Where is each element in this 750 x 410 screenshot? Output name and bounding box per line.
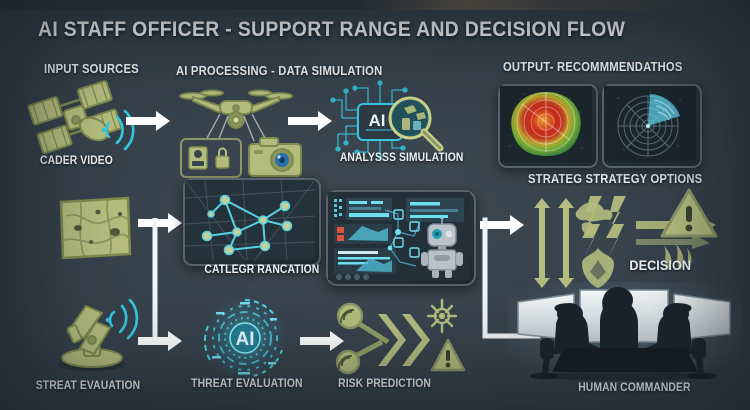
infographic-canvas: AI STAFF OFFICER - SUPPORT RANGE AND DEC…	[0, 0, 750, 410]
chevrons-icon	[330, 298, 476, 380]
caption-decision: DECISION	[629, 257, 691, 273]
strategy-marker-top-icon	[570, 198, 618, 240]
commander-table-icon	[508, 282, 742, 380]
heading-ai-processing: AI PROCESSING - DATA SIMULATION	[176, 64, 382, 78]
chip-ai-label: AI	[369, 111, 386, 130]
caption-catlegr-rancation: CATLEGR RANCATION	[204, 264, 319, 276]
arrow-radar-to-ai-core	[138, 328, 184, 350]
caption-threat-evaluation: THREAT EVALUATION	[191, 378, 302, 390]
warning-triangle-icon	[432, 340, 464, 370]
decision-warning-icon	[658, 186, 720, 242]
ai-core-label: AI	[236, 329, 255, 350]
caption-cader-video: CADER VIDEO	[40, 155, 113, 167]
caption-risk-prediction: RISK PREDICTION	[338, 378, 431, 390]
caption-streat-evauation: STREAT EVAUATION	[36, 380, 140, 392]
ai-chip-icon: AI	[328, 78, 448, 158]
arrow-input-to-processing	[126, 108, 172, 130]
radar-scope-icon	[602, 84, 702, 168]
page-title: AI STAFF OFFICER - SUPPORT RANGE AND DEC…	[38, 18, 625, 42]
caption-analysis-simulation: ANALYSSS SIMULATION	[340, 152, 464, 164]
heading-input-sources: INPUT SOURCES	[44, 62, 139, 76]
ai-core-icon: AI	[190, 296, 300, 380]
caption-human-commander: HUMAN COMMANDER	[578, 382, 690, 394]
heading-output-recommendations: OUTPUT- RECOMMMENDATHOS	[503, 60, 683, 74]
heading-strategy-options: STRATEG STRATEGY OPTIONS	[528, 172, 702, 186]
heatmap-icon	[498, 84, 598, 168]
control-unit-icon	[180, 138, 242, 178]
map-icon	[58, 196, 132, 260]
dashboard-icon	[326, 190, 476, 286]
network-graph-icon	[183, 178, 321, 266]
camera-icon	[248, 136, 302, 178]
